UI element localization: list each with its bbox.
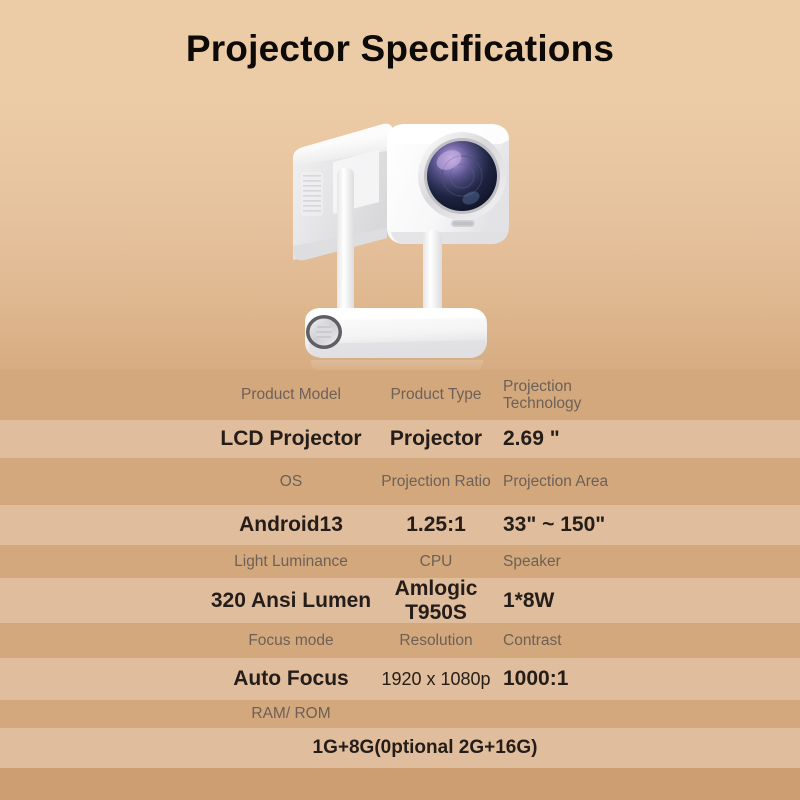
value-cell: 1.25:1 xyxy=(377,505,495,545)
header-label: Projection Technology xyxy=(503,378,643,413)
specification-table: Product Model Product Type Projection Te… xyxy=(0,370,800,800)
value-label: 1*8W xyxy=(503,589,554,613)
header-label: Projection Area xyxy=(503,473,608,490)
value-cell: 1000:1 xyxy=(503,658,643,700)
value-cell: Android13 xyxy=(205,505,377,545)
header-cell: Product Model xyxy=(205,370,377,420)
ir-sensor-slot xyxy=(451,220,475,227)
table-row-header: Light Luminance CPU Speaker xyxy=(0,545,800,578)
value-label: 1000:1 xyxy=(503,667,568,691)
value-cell: Auto Focus xyxy=(205,658,377,700)
value-label: 1920 x 1080p xyxy=(381,669,490,689)
header-label: CPU xyxy=(420,553,453,570)
header-cell: OS xyxy=(205,458,377,505)
value-cell: 1920 x 1080p xyxy=(377,658,495,700)
value-label: 320 Ansi Lumen xyxy=(211,589,371,613)
value-label: LCD Projector xyxy=(220,427,361,451)
table-row-value: Auto Focus 1920 x 1080p 1000:1 xyxy=(0,658,800,700)
footer-band xyxy=(0,768,800,800)
table-row-value: LCD Projector Projector 2.69 " xyxy=(0,420,800,458)
value-cell: 1*8W xyxy=(503,578,643,623)
header-cell: Speaker xyxy=(503,545,643,578)
value-cell: 320 Ansi Lumen xyxy=(205,578,377,623)
value-label: Android13 xyxy=(239,513,343,537)
value-label: Projector xyxy=(390,427,482,451)
header-cell: Projection Technology xyxy=(503,370,643,420)
header-cell: Resolution xyxy=(377,623,495,658)
header-cell: CPU xyxy=(377,545,495,578)
header-cell: Projection Area xyxy=(503,458,643,505)
table-row-header: RAM/ ROM xyxy=(0,700,800,728)
header-cell: Light Luminance xyxy=(205,545,377,578)
table-row-header: OS Projection Ratio Projection Area xyxy=(0,458,800,505)
value-cell: 33" ~ 150" xyxy=(503,505,643,545)
header-cell: Projection Ratio xyxy=(377,458,495,505)
header-cell: Contrast xyxy=(503,623,643,658)
value-cell: 1G+8G(0ptional 2G+16G) xyxy=(205,728,645,768)
header-label: Speaker xyxy=(503,553,561,570)
value-cell: Amlogic T950S xyxy=(377,578,495,623)
table-row-value: 1G+8G(0ptional 2G+16G) xyxy=(0,728,800,768)
header-label: Resolution xyxy=(399,632,472,649)
value-cell: Projector xyxy=(377,420,495,458)
value-label: 1.25:1 xyxy=(406,513,466,537)
header-label: Contrast xyxy=(503,632,562,649)
product-image-projector xyxy=(275,110,550,375)
table-row-value: Android13 1.25:1 33" ~ 150" xyxy=(0,505,800,545)
header-label: RAM/ ROM xyxy=(251,705,330,722)
specification-page: Projector Specifications xyxy=(0,0,800,800)
value-cell: LCD Projector xyxy=(205,420,377,458)
header-label: Focus mode xyxy=(248,632,333,649)
projector-lens xyxy=(418,132,506,220)
header-cell: Product Type xyxy=(377,370,495,420)
value-label: Amlogic T950S xyxy=(377,577,495,624)
value-cell: 2.69 " xyxy=(503,420,643,458)
table-row-value: 320 Ansi Lumen Amlogic T950S 1*8W xyxy=(0,578,800,623)
value-label: Auto Focus xyxy=(233,667,349,691)
header-label: OS xyxy=(280,473,302,490)
header-label: Light Luminance xyxy=(234,553,348,570)
header-cell: RAM/ ROM xyxy=(205,700,377,728)
table-row-header: Focus mode Resolution Contrast xyxy=(0,623,800,658)
value-label: 1G+8G(0ptional 2G+16G) xyxy=(313,737,538,758)
vent-grille xyxy=(301,172,323,216)
table-row-header: Product Model Product Type Projection Te… xyxy=(0,370,800,420)
header-cell: Focus mode xyxy=(205,623,377,658)
page-title: Projector Specifications xyxy=(0,28,800,70)
adjustment-knob xyxy=(306,315,342,349)
header-label: Product Model xyxy=(241,386,341,403)
value-label: 2.69 " xyxy=(503,427,560,451)
header-label: Projection Ratio xyxy=(381,473,490,490)
value-label: 33" ~ 150" xyxy=(503,513,605,537)
header-label: Product Type xyxy=(390,386,481,403)
